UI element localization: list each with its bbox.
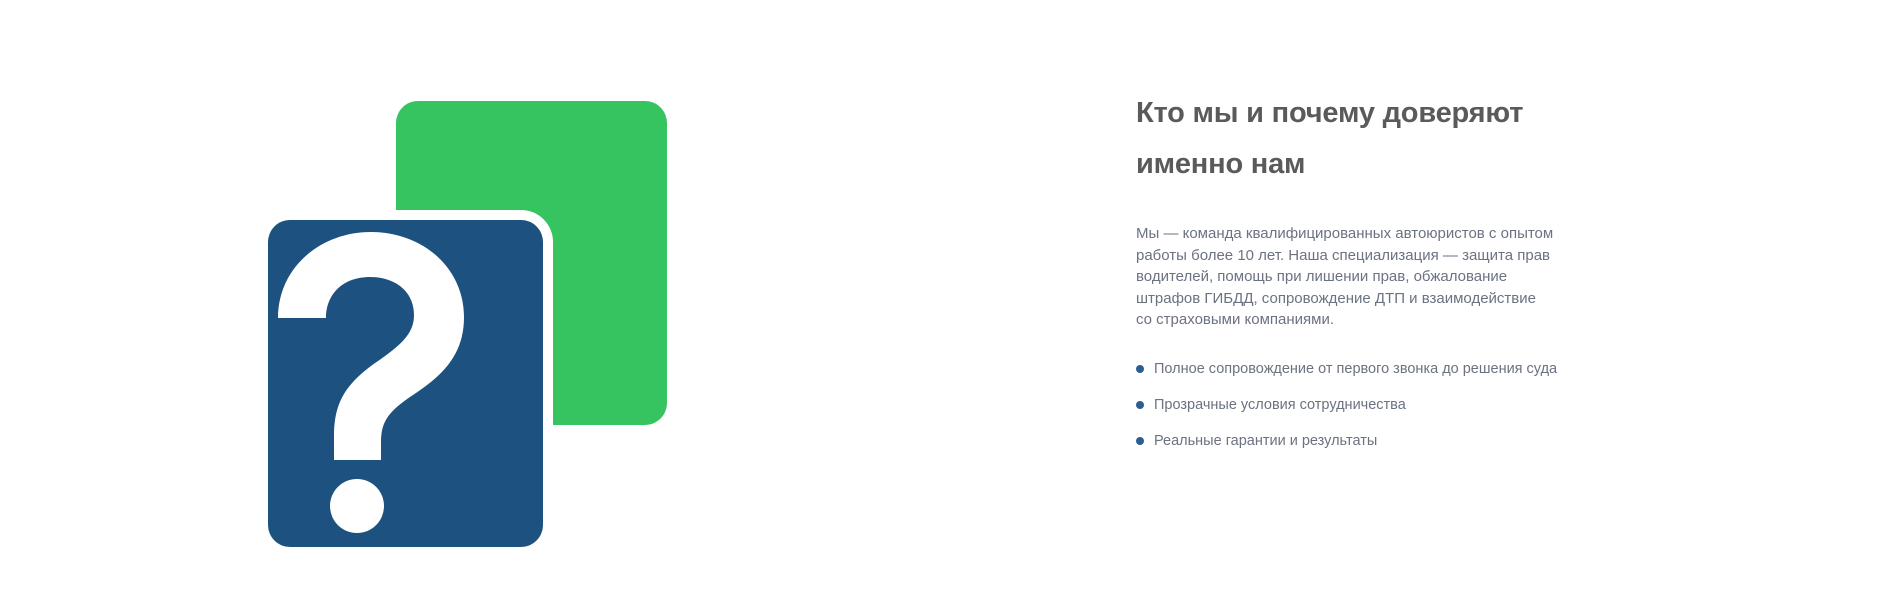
bullet-dot-icon [1136, 365, 1144, 373]
list-item-label: Реальные гарантии и результаты [1154, 433, 1377, 449]
list-item: Прозрачные условия сотрудничества [1136, 395, 1646, 415]
about-us-text-column: Кто мы и почему доверяют именно нам Мы —… [1136, 88, 1646, 451]
blue-card [268, 220, 543, 547]
list-item: Реальные гарантии и результаты [1136, 431, 1646, 451]
list-item-label: Прозрачные условия сотрудничества [1154, 397, 1406, 413]
card-illustration [0, 0, 900, 612]
bullet-dot-icon [1136, 437, 1144, 445]
bullet-dot-icon [1136, 401, 1144, 409]
list-item-label: Полное сопровождение от первого звонка д… [1154, 361, 1557, 377]
about-us-section: Кто мы и почему доверяют именно нам Мы —… [0, 0, 1901, 612]
benefits-list: Полное сопровождение от первого звонка д… [1136, 331, 1646, 451]
about-us-paragraph: Мы — команда квалифицированных автоюрист… [1136, 190, 1556, 331]
list-item: Полное сопровождение от первого звонка д… [1136, 359, 1646, 379]
page-title: Кто мы и почему доверяют именно нам [1136, 88, 1536, 190]
